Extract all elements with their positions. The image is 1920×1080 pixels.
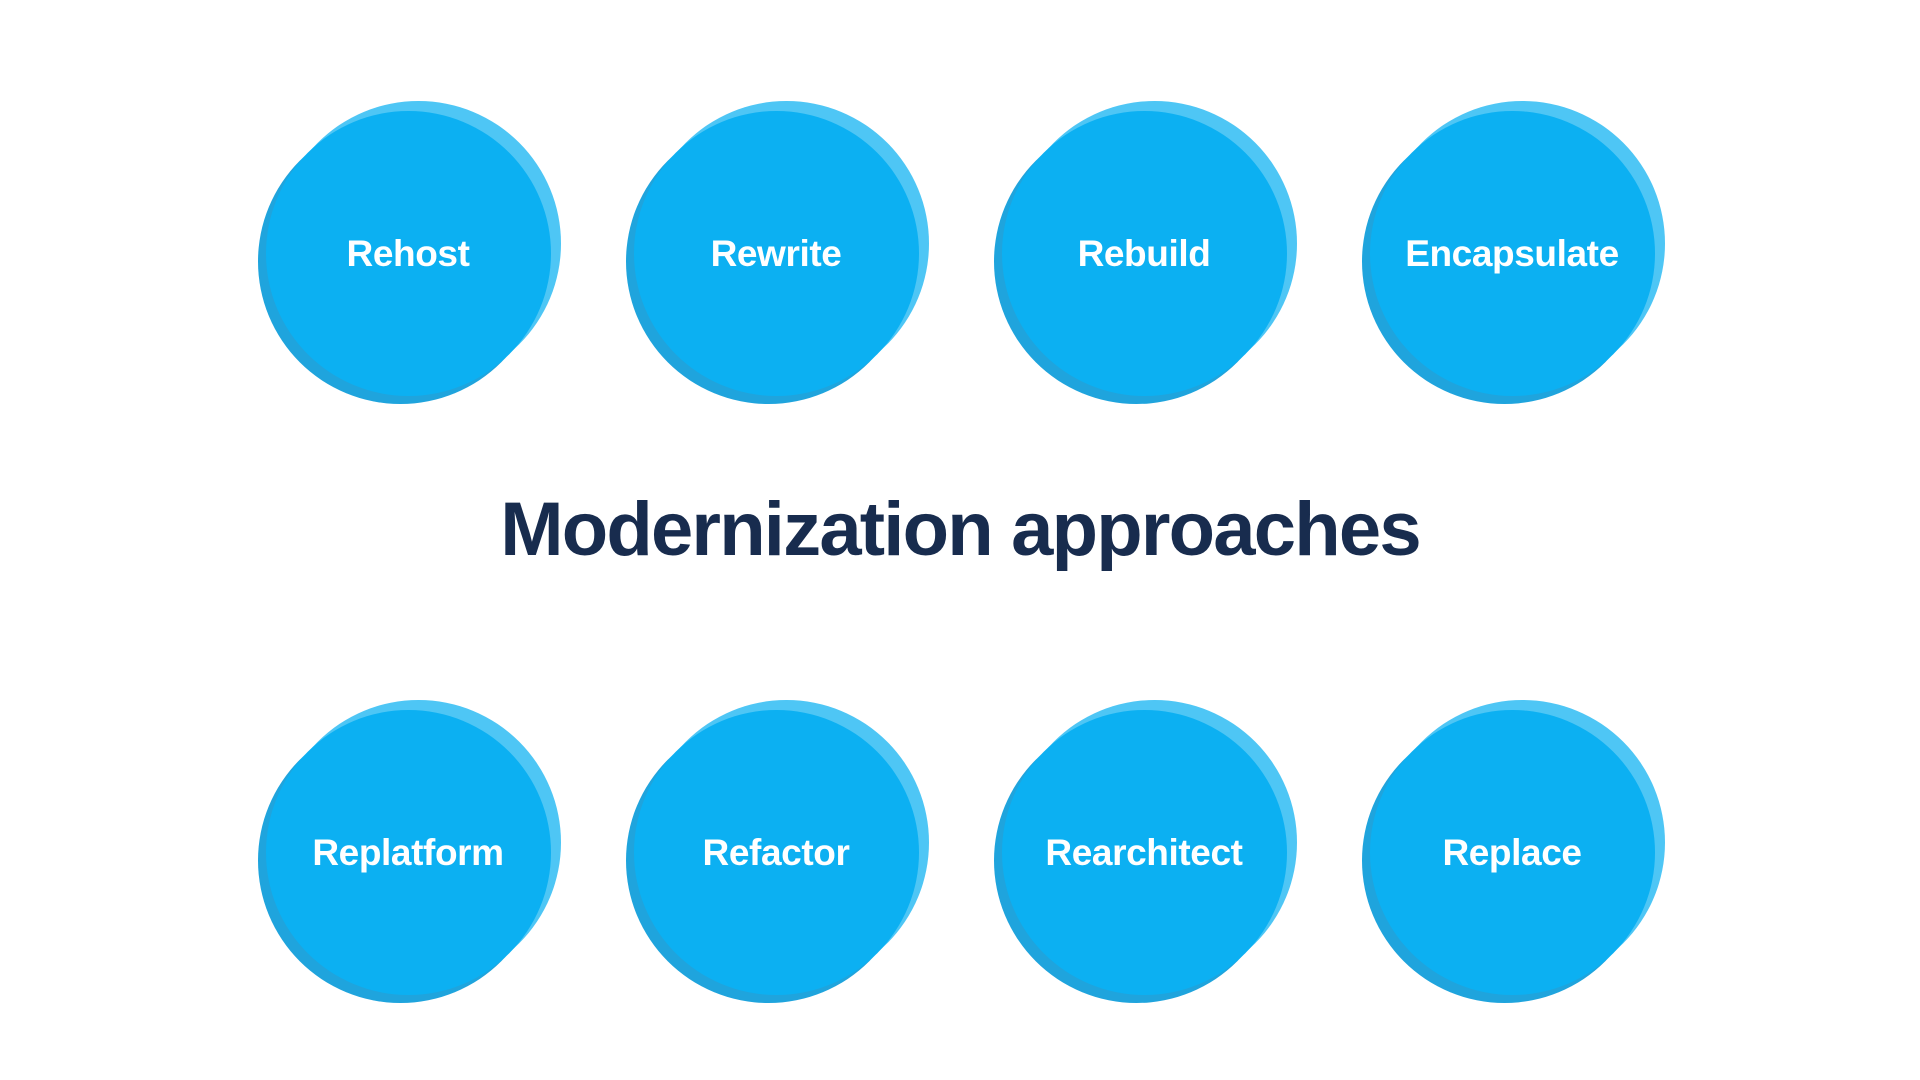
approach-label: Rewrite <box>612 111 941 396</box>
approach-label: Rebuild <box>980 111 1309 396</box>
approach-circle-rearchitect[interactable]: Rearchitect <box>1002 710 1287 995</box>
approach-label: Encapsulate <box>1348 111 1677 396</box>
approach-circle-replace[interactable]: Replace <box>1370 710 1655 995</box>
approach-label: Rehost <box>244 111 573 396</box>
approach-label: Replatform <box>244 710 573 995</box>
approach-circle-refactor[interactable]: Refactor <box>634 710 919 995</box>
approach-circle-replatform[interactable]: Replatform <box>266 710 551 995</box>
approach-circle-encapsulate[interactable]: Encapsulate <box>1370 111 1655 396</box>
approach-circle-rebuild[interactable]: Rebuild <box>1002 111 1287 396</box>
approach-label: Rearchitect <box>980 710 1309 995</box>
approach-circle-rewrite[interactable]: Rewrite <box>634 111 919 396</box>
modernization-row-bottom: Replatform Refactor Rearchitect Replace <box>0 702 1920 1002</box>
approach-label: Replace <box>1348 710 1677 995</box>
modernization-row-top: Rehost Rewrite Rebuild Encapsulate <box>0 103 1920 403</box>
page-title: Modernization approaches <box>0 492 1920 568</box>
slide-canvas: Rehost Rewrite Rebuild Encapsulate Moder… <box>0 0 1920 1080</box>
approach-label: Refactor <box>612 710 941 995</box>
approach-circle-rehost[interactable]: Rehost <box>266 111 551 396</box>
